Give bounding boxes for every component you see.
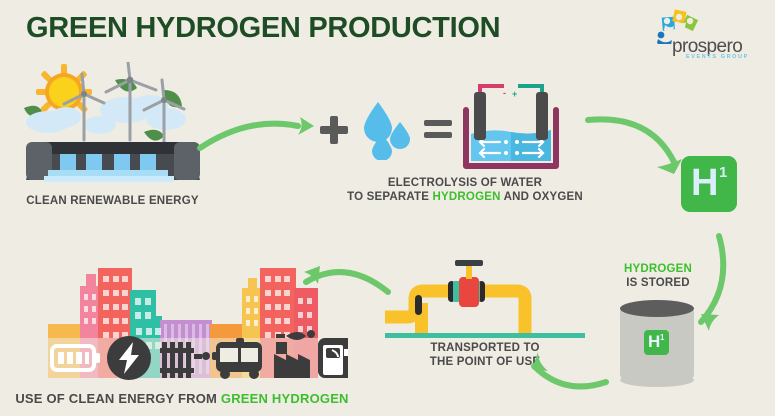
infographic-canvas: GREEN HYDROGEN PRODUCTION prospero EVENT… xyxy=(0,0,775,416)
hydrogen-element-box: H 1 xyxy=(681,156,737,212)
arrow-electrolysis-to-hydrogen xyxy=(588,119,674,162)
caption-clean-renewable-energy: CLEAN RENEWABLE ENERGY xyxy=(0,194,225,208)
arrowhead-3 xyxy=(701,314,719,331)
prospero-logo: prospero EVENTS GROUP xyxy=(640,8,760,66)
arrow-energy-to-electrolysis xyxy=(200,124,298,148)
logo-tagline: EVENTS GROUP xyxy=(686,54,749,60)
pipeline-transport-icon xyxy=(385,255,585,345)
equals-symbol-icon xyxy=(424,120,452,140)
caption-hydrogen-highlight: HYDROGEN xyxy=(433,191,501,203)
hydro-dam-icon xyxy=(26,142,200,182)
fuel-pump-icon xyxy=(318,338,348,378)
tank-badge-symbol: H xyxy=(648,333,660,351)
arrow-storage-to-transport xyxy=(534,366,606,386)
tank-lid xyxy=(620,300,694,317)
caption-green-hydrogen-highlight: GREEN HYDROGEN xyxy=(221,391,349,406)
page-title: GREEN HYDROGEN PRODUCTION xyxy=(26,12,500,45)
caption-storage-hydrogen: HYDROGEN xyxy=(598,262,718,276)
arrowhead-1 xyxy=(298,117,314,135)
hydrogen-storage-tank-icon: H 1 xyxy=(620,298,694,390)
caption-hydrogen-stored: HYDROGEN IS STORED xyxy=(598,262,718,290)
caption-electrolysis-line2-suffix: AND OXYGEN xyxy=(501,191,583,203)
caption-electrolysis: ELECTROLYSIS OF WATER TO SEPARATE HYDROG… xyxy=(340,176,590,204)
caption-transported: TRANSPORTED TO THE POINT OF USE xyxy=(385,341,585,369)
caption-transport-line2: THE POINT OF USE xyxy=(385,355,585,369)
lightning-bolt-icon xyxy=(107,336,151,380)
caption-electrolysis-line1: ELECTROLYSIS OF WATER xyxy=(340,176,590,190)
svg-text:+: + xyxy=(512,89,517,99)
city-usage-illustration xyxy=(18,250,348,390)
caption-use-prefix: USE OF CLEAN ENERGY FROM xyxy=(15,391,221,406)
clean-renewable-energy-illustration xyxy=(18,62,208,182)
arrowhead-2 xyxy=(657,159,682,174)
caption-electrolysis-line2: TO SEPARATE HYDROGEN AND OXYGEN xyxy=(340,190,590,204)
plus-symbol-icon xyxy=(320,116,348,144)
caption-use-clean-energy: USE OF CLEAN ENERGY FROM GREEN HYDROGEN xyxy=(12,392,352,406)
caption-electrolysis-line2-prefix: TO SEPARATE xyxy=(347,191,432,203)
svg-text:-: - xyxy=(503,88,506,98)
tank-hydrogen-badge: H 1 xyxy=(644,330,669,355)
caption-transport-line1: TRANSPORTED TO xyxy=(385,341,585,355)
electrolysis-cell-icon: - + xyxy=(462,82,560,170)
hydrogen-superscript: 1 xyxy=(719,164,727,181)
hydrogen-symbol: H xyxy=(691,164,718,202)
water-drops-icon xyxy=(360,100,410,160)
caption-storage-line2: IS STORED xyxy=(598,276,718,290)
tank-badge-superscript: 1 xyxy=(660,333,664,342)
